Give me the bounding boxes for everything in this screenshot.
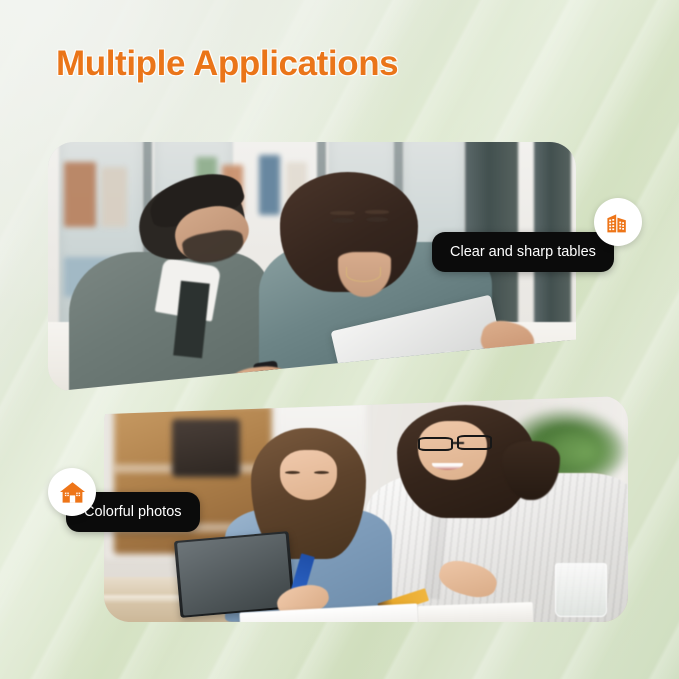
promo-banner: Multiple Applications [0,0,679,679]
badge-clear-and-sharp-tables[interactable]: Clear and sharp tables [432,232,614,272]
page-title: Multiple Applications [56,44,398,84]
house-icon [48,468,96,516]
office-buildings-icon [594,198,642,246]
badge-label: Clear and sharp tables [450,244,596,260]
badge-label: Colorful photos [84,504,182,520]
